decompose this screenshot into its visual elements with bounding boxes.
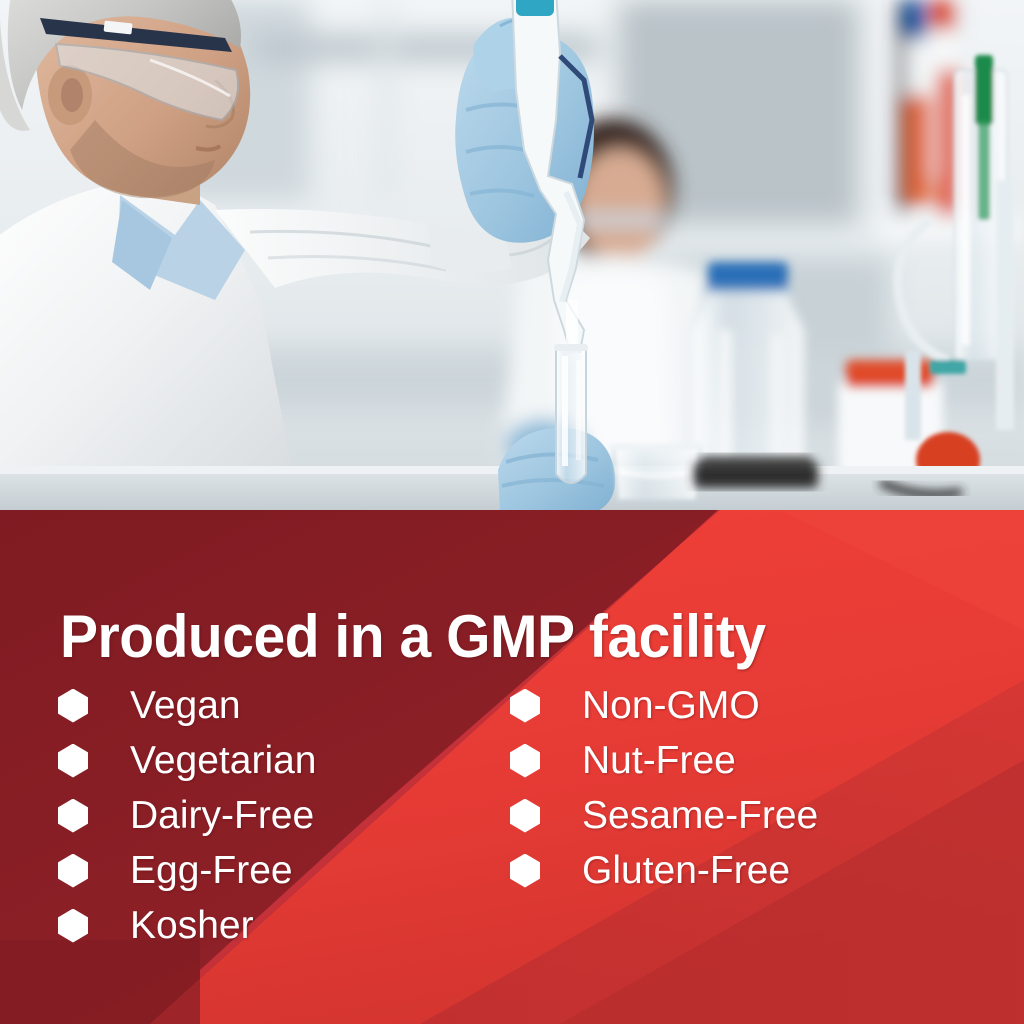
list-item: Dairy-Free xyxy=(58,788,317,843)
claim-label: Egg-Free xyxy=(130,851,293,890)
lab-scene-illustration xyxy=(0,0,1024,512)
list-item: Egg-Free xyxy=(58,843,317,898)
list-item: Nut-Free xyxy=(510,733,818,788)
claim-label: Vegan xyxy=(130,686,241,725)
hexagon-bullet-icon xyxy=(58,854,88,888)
hexagon-bullet-icon xyxy=(58,799,88,833)
list-item: Vegetarian xyxy=(58,733,317,788)
gmp-claims-panel: Produced in a GMP facility Vegan Vegetar… xyxy=(0,510,1024,1024)
hexagon-bullet-icon xyxy=(510,854,540,888)
laboratory-hero-photo xyxy=(0,0,1024,512)
list-item: Non-GMO xyxy=(510,678,818,733)
hexagon-bullet-icon xyxy=(510,744,540,778)
list-item: Vegan xyxy=(58,678,317,733)
claim-label: Vegetarian xyxy=(130,741,317,780)
claims-column-left: Vegan Vegetarian Dairy-Free Egg-Free Kos… xyxy=(58,678,317,953)
gmp-facility-banner: Produced in a GMP facility Vegan Vegetar… xyxy=(0,0,1024,1024)
beaker xyxy=(610,444,704,500)
claims-column-right: Non-GMO Nut-Free Sesame-Free Gluten-Free xyxy=(510,678,818,898)
claim-label: Dairy-Free xyxy=(130,796,314,835)
list-item: Kosher xyxy=(58,898,317,953)
claim-label: Nut-Free xyxy=(582,741,736,780)
list-item: Gluten-Free xyxy=(510,843,818,898)
claim-label: Kosher xyxy=(130,906,254,945)
hotplate-base xyxy=(694,456,818,488)
list-item: Sesame-Free xyxy=(510,788,818,843)
hexagon-bullet-icon xyxy=(58,909,88,943)
hexagon-bullet-icon xyxy=(510,689,540,723)
hexagon-bullet-icon xyxy=(58,744,88,778)
claim-label: Non-GMO xyxy=(582,686,760,725)
test-tube xyxy=(554,344,588,483)
claim-label: Sesame-Free xyxy=(582,796,818,835)
hexagon-bullet-icon xyxy=(58,689,88,723)
hexagon-bullet-icon xyxy=(510,799,540,833)
claim-label: Gluten-Free xyxy=(582,851,790,890)
page-title: Produced in a GMP facility xyxy=(60,607,944,667)
